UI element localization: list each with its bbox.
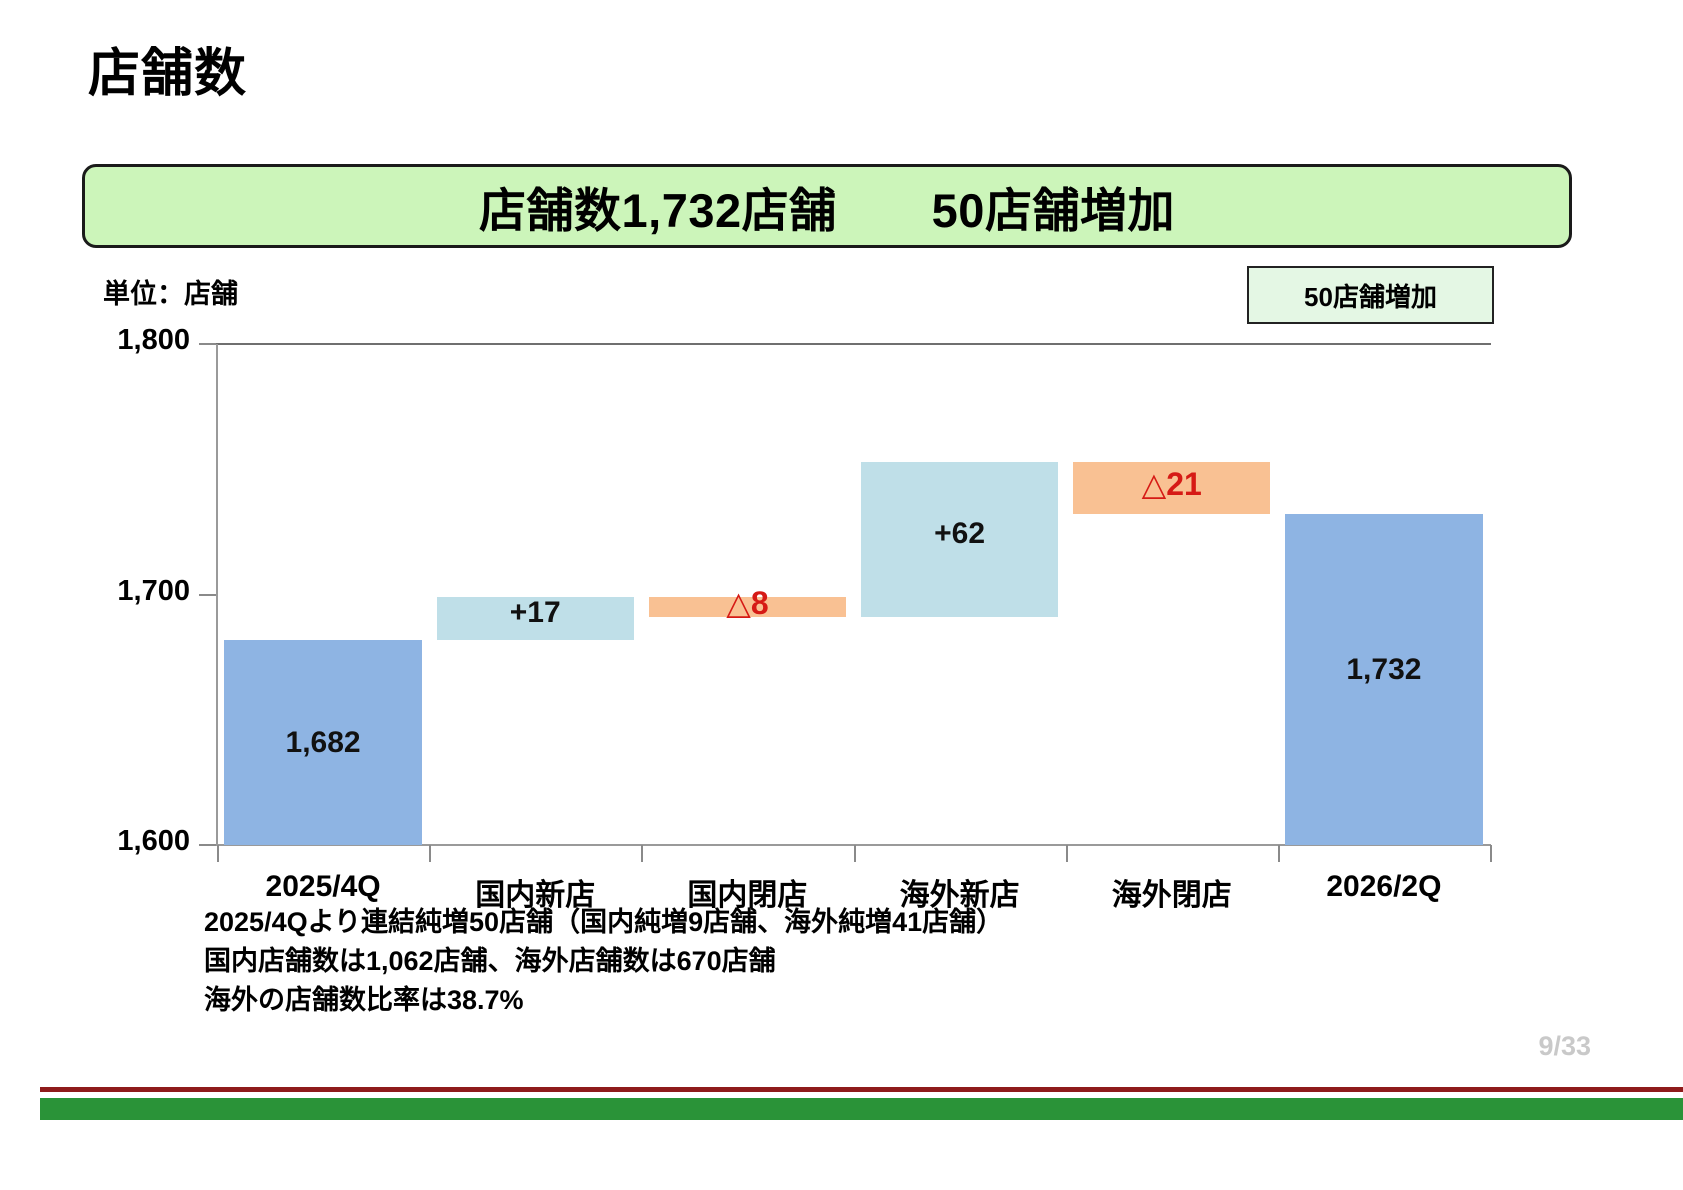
y-tick-mark <box>199 594 216 596</box>
y-tick-mark <box>199 844 216 846</box>
footnotes: 2025/4Qより連結純増50店舗（国内純増9店舗、海外純増41店舗） 国内店舗… <box>204 903 1003 1020</box>
y-axis-unit-label: 単位：店舗 <box>103 272 238 311</box>
y-tick-label: 1,700 <box>0 575 190 608</box>
x-tick-mark <box>641 845 643 862</box>
bar-total: 1,682 <box>224 640 421 845</box>
page-number: 9/33 <box>1538 1031 1591 1062</box>
bar-value-label: +17 <box>437 596 634 630</box>
footer-green-bar <box>40 1098 1683 1120</box>
plot-top-border <box>216 343 1491 345</box>
footnote-line-1: 2025/4Qより連結純増50店舗（国内純増9店舗、海外純増41店舗） <box>204 903 1003 942</box>
bar-decrease: △21 <box>1073 462 1270 515</box>
x-tick-mark <box>429 845 431 862</box>
x-tick-mark <box>217 845 219 862</box>
y-tick-label: 1,800 <box>0 324 190 357</box>
x-tick-mark <box>1278 845 1280 862</box>
x-category-label: 2026/2Q <box>1278 870 1490 904</box>
x-tick-mark <box>1490 845 1492 862</box>
bar-value-label: 1,732 <box>1285 653 1482 687</box>
footer-red-rule <box>40 1087 1683 1092</box>
bar-value-label: 1,682 <box>224 726 421 760</box>
y-tick-label: 1,600 <box>0 825 190 858</box>
x-category-label: 2025/4Q <box>217 870 429 904</box>
bar-value-label: +62 <box>861 517 1058 551</box>
increase-callout-text: 50店舗増加 <box>1304 277 1437 314</box>
x-tick-mark <box>854 845 856 862</box>
bar-decrease: △8 <box>649 597 846 617</box>
y-axis-line <box>216 344 218 846</box>
y-tick-mark <box>199 343 216 345</box>
bar-increase: +17 <box>437 597 634 640</box>
bar-increase: +62 <box>861 462 1058 617</box>
increase-callout-box: 50店舗増加 <box>1247 266 1494 324</box>
bar-total: 1,732 <box>1285 514 1482 845</box>
bar-value-label: △8 <box>649 584 846 622</box>
x-category-label: 海外閉店 <box>1066 870 1278 914</box>
bar-value-label: △21 <box>1073 465 1270 503</box>
footnote-line-3: 海外の店舗数比率は38.7% <box>204 981 1003 1020</box>
footnote-line-2: 国内店舗数は1,062店舗、海外店舗数は670店舗 <box>204 942 1003 981</box>
x-tick-mark <box>1066 845 1068 862</box>
